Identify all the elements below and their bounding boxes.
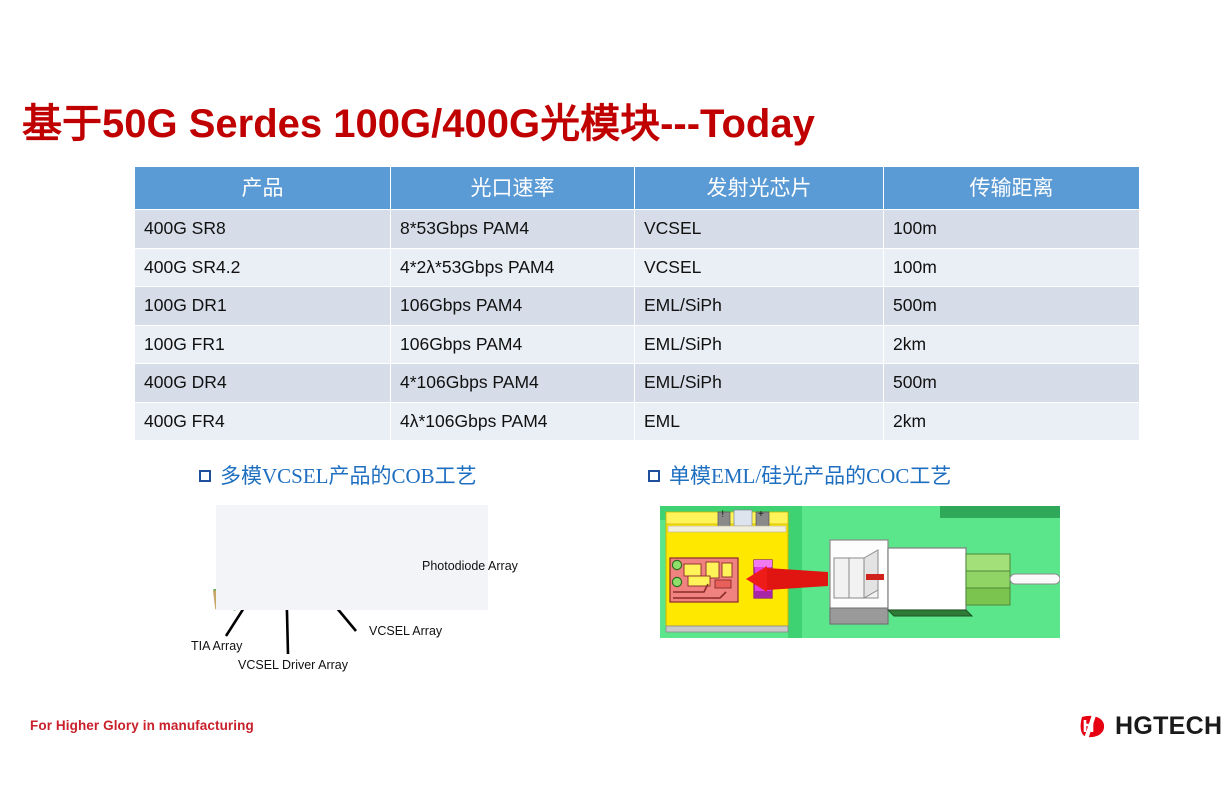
circuit-pad-a — [684, 564, 701, 576]
column-header-product: 产品 — [135, 167, 391, 210]
label-tia-array: TIA Array — [191, 639, 242, 653]
lens-housing-base — [830, 608, 888, 624]
cell-rate: 106Gbps PAM4 — [391, 325, 635, 364]
brand-wordmark: HGTECH — [1115, 714, 1221, 739]
fiber-block-lower — [966, 588, 1010, 605]
slide-canvas: 基于50G Serdes 100G/400G光模块---Today 产品 光口速… — [0, 0, 1221, 803]
table-row: 400G SR8 8*53Gbps PAM4 VCSEL 100m — [135, 210, 1140, 249]
cell-rate: 4*106Gbps PAM4 — [391, 364, 635, 403]
column-header-chip: 发射光芯片 — [635, 167, 884, 210]
terminal-minus-mark: ! — [722, 509, 725, 519]
column-header-rate: 光口速率 — [391, 167, 635, 210]
fiber-block-middle — [966, 571, 1010, 588]
caption-coc: 单模EML/硅光产品的COC工艺 — [648, 460, 951, 490]
specification-table: 产品 光口速率 发射光芯片 传输距离 400G SR8 8*53Gbps PAM… — [134, 167, 1140, 441]
ferrule-base-shadow — [888, 610, 972, 616]
cell-chip: VCSEL — [635, 248, 884, 287]
cell-product: 400G FR4 — [135, 402, 391, 441]
bottom-rail — [666, 626, 788, 632]
cell-chip: EML/SiPh — [635, 325, 884, 364]
caption-cob-label: 多模VCSEL产品的COB工艺 — [220, 460, 477, 490]
cell-rate: 106Gbps PAM4 — [391, 287, 635, 326]
figure-cob-assembly: Photodiode Array VCSEL Array TIA Array V… — [186, 502, 596, 682]
page-title: 基于50G Serdes 100G/400G光模块---Today — [22, 101, 1022, 147]
square-bullet-icon — [199, 470, 211, 482]
coc-cad-illustration: ! + — [660, 506, 1060, 646]
caption-coc-label: 单模EML/硅光产品的COC工艺 — [669, 460, 951, 490]
table-header-row: 产品 光口速率 发射光芯片 传输距离 — [135, 167, 1140, 210]
cell-rate: 4λ*106Gbps PAM4 — [391, 402, 635, 441]
cell-distance: 500m — [884, 364, 1140, 403]
cell-chip: VCSEL — [635, 210, 884, 249]
fiber-block-upper — [966, 554, 1010, 571]
cell-distance: 100m — [884, 248, 1140, 287]
figure-coc-assembly: ! + — [660, 506, 1060, 646]
column-header-distance: 传输距离 — [884, 167, 1140, 210]
circuit-pad-c — [722, 563, 732, 577]
cell-chip: EML — [635, 402, 884, 441]
circuit-via-bottom — [672, 577, 681, 586]
coc-green-upper-right — [940, 506, 1060, 518]
submount-trace-band — [668, 526, 786, 532]
cell-chip: EML/SiPh — [635, 287, 884, 326]
terminal-pad-white — [734, 510, 752, 526]
caption-cob: 多模VCSEL产品的COB工艺 — [199, 460, 477, 490]
terminal-plus-mark: + — [758, 509, 764, 520]
circuit-pad-d — [688, 576, 710, 586]
cell-product: 100G FR1 — [135, 325, 391, 364]
label-vcsel-driver-array: VCSEL Driver Array — [238, 658, 348, 672]
cell-product: 100G DR1 — [135, 287, 391, 326]
brand-logo: HGTECH — [1078, 709, 1221, 743]
cell-distance: 100m — [884, 210, 1140, 249]
cell-distance: 500m — [884, 287, 1140, 326]
magenta-element-base — [754, 591, 772, 598]
cell-rate: 8*53Gbps PAM4 — [391, 210, 635, 249]
cell-distance: 2km — [884, 325, 1140, 364]
table-row: 100G FR1 106Gbps PAM4 EML/SiPh 2km — [135, 325, 1140, 364]
cell-product: 400G SR4.2 — [135, 248, 391, 287]
label-vcsel-array: VCSEL Array — [369, 624, 442, 638]
square-bullet-icon — [648, 470, 660, 482]
hgtech-mark-icon — [1078, 711, 1108, 741]
circuit-pad-e — [715, 580, 731, 588]
internal-beam-segment — [866, 574, 884, 580]
cell-rate: 4*2λ*53Gbps PAM4 — [391, 248, 635, 287]
table-row: 100G DR1 106Gbps PAM4 EML/SiPh 500m — [135, 287, 1140, 326]
cell-product: 400G DR4 — [135, 364, 391, 403]
table-row: 400G FR4 4λ*106Gbps PAM4 EML 2km — [135, 402, 1140, 441]
label-photodiode-array: Photodiode Array — [422, 559, 518, 573]
ferrule-barrel — [888, 548, 966, 610]
fiber-cable — [1010, 574, 1060, 584]
cell-chip: EML/SiPh — [635, 364, 884, 403]
table-row: 400G SR4.2 4*2λ*53Gbps PAM4 VCSEL 100m — [135, 248, 1140, 287]
circuit-via-top — [672, 560, 681, 569]
cell-distance: 2km — [884, 402, 1140, 441]
cell-product: 400G SR8 — [135, 210, 391, 249]
magenta-element-top — [754, 560, 772, 567]
figure-cob-backdrop — [216, 505, 488, 610]
footer-tagline: For Higher Glory in manufacturing — [30, 718, 254, 733]
table-row: 400G DR4 4*106Gbps PAM4 EML/SiPh 500m — [135, 364, 1140, 403]
